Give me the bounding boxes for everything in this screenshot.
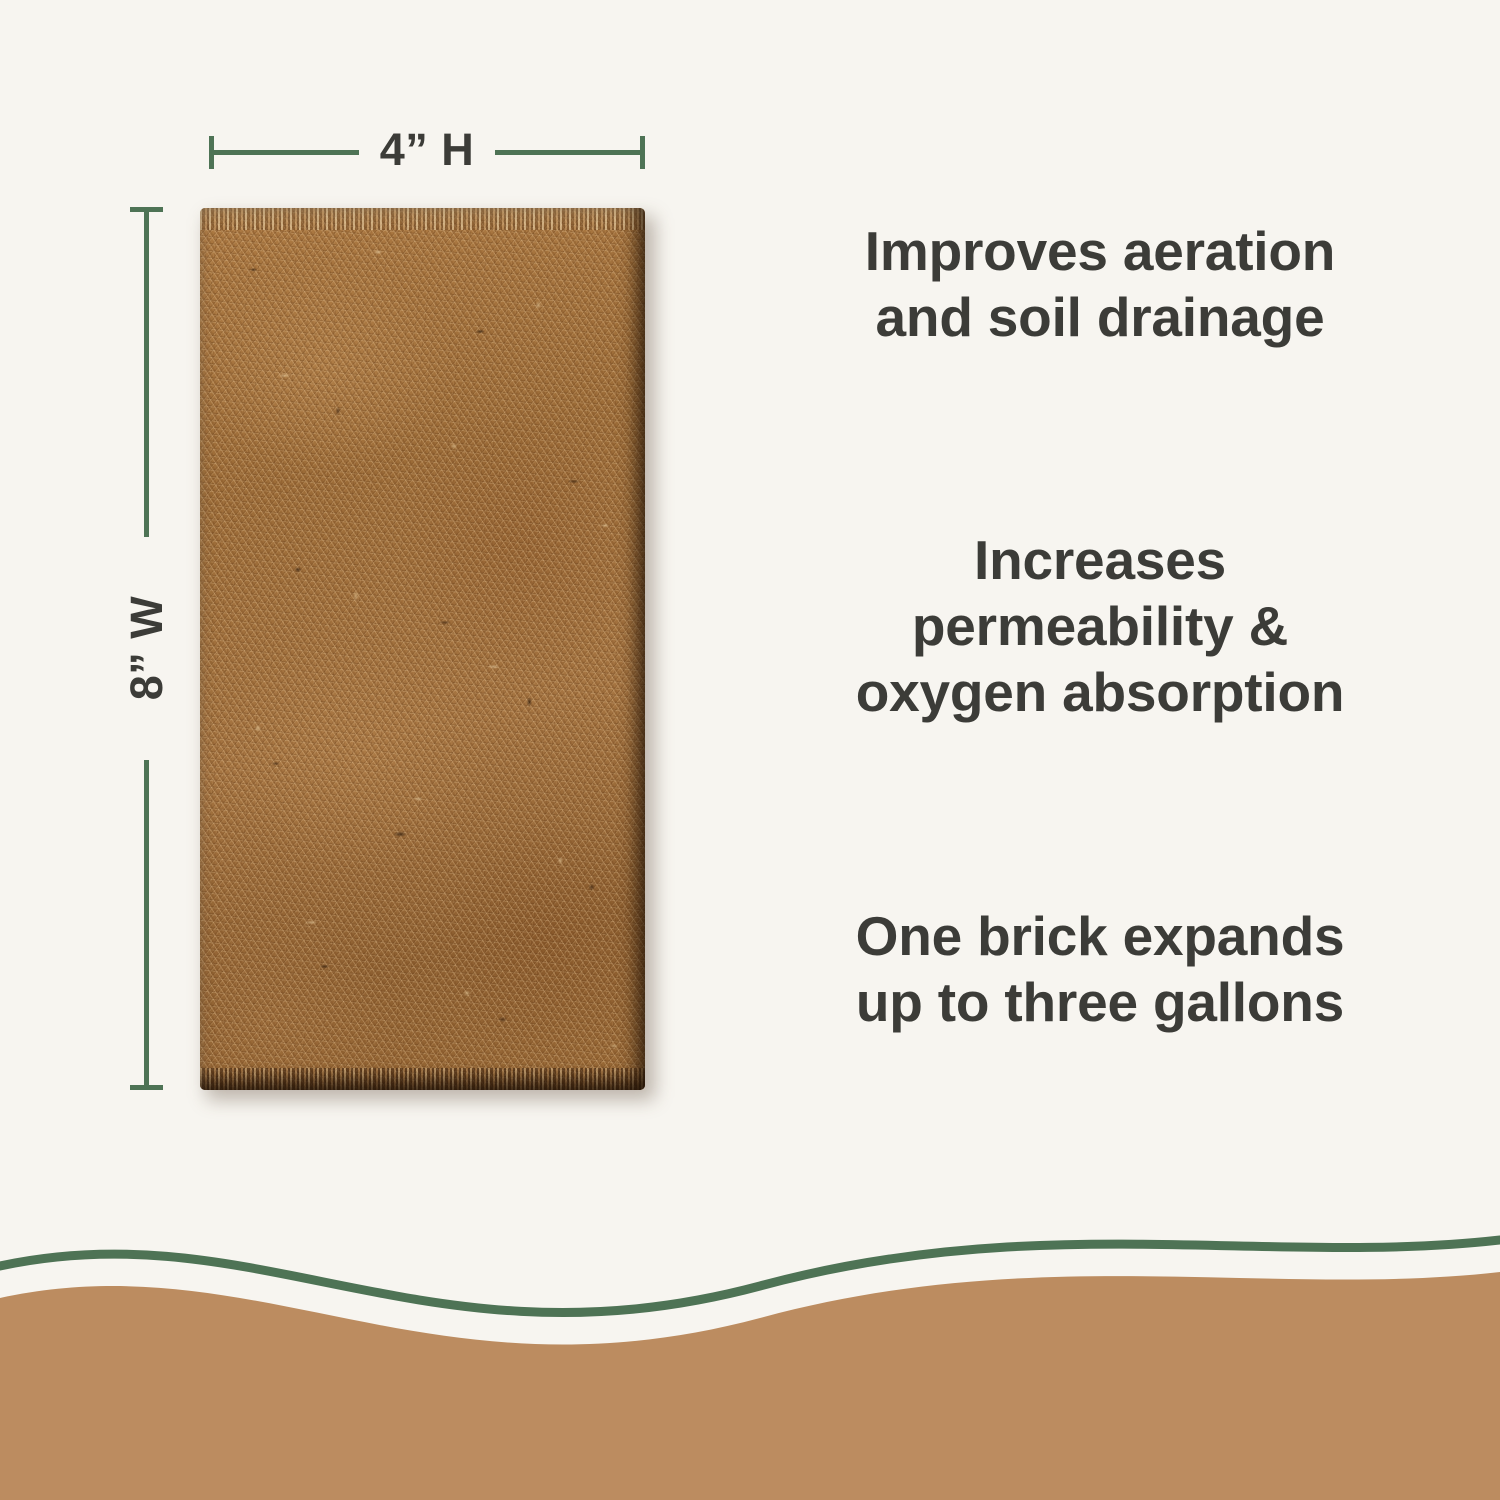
vertical-dimension-cap-bottom bbox=[130, 1085, 163, 1090]
feature-aeration-line-1: Improves aeration bbox=[700, 218, 1500, 284]
horizontal-dimension-line-right bbox=[495, 150, 645, 155]
feature-permeability-line-2: permeability & bbox=[700, 593, 1500, 659]
infographic-canvas: 4” H 8” W Improves aeration and soil dra… bbox=[0, 0, 1500, 1500]
brick-edge-shading bbox=[200, 208, 645, 1090]
vertical-dimension-cap-top bbox=[130, 207, 163, 212]
vertical-dimension-line-top bbox=[144, 207, 149, 537]
horizontal-dimension-cap-right bbox=[640, 136, 645, 169]
feature-permeability-line-1: Increases bbox=[700, 527, 1500, 593]
feature-permeability-line-3: oxygen absorption bbox=[700, 659, 1500, 725]
feature-expansion: One brick expands up to three gallons bbox=[700, 903, 1500, 1035]
product-image-panel: 4” H 8” W bbox=[0, 0, 740, 1180]
soil-wave-divider bbox=[0, 1170, 1500, 1500]
feature-list: Improves aeration and soil drainage Incr… bbox=[700, 0, 1500, 1180]
feature-expansion-line-1: One brick expands bbox=[700, 903, 1500, 969]
coco-coir-brick-image bbox=[200, 208, 645, 1090]
vertical-dimension-line-bottom bbox=[144, 760, 149, 1090]
horizontal-dimension-cap-left bbox=[209, 136, 214, 169]
horizontal-dimension-label: 4” H bbox=[359, 118, 495, 182]
feature-aeration-line-2: and soil drainage bbox=[700, 284, 1500, 350]
feature-permeability: Increases permeability & oxygen absorpti… bbox=[700, 527, 1500, 725]
horizontal-dimension-line-left bbox=[209, 150, 359, 155]
feature-aeration: Improves aeration and soil drainage bbox=[700, 218, 1500, 350]
soil-wave-fill bbox=[0, 1272, 1500, 1500]
vertical-dimension-label: 8” W bbox=[115, 580, 179, 716]
feature-expansion-line-2: up to three gallons bbox=[700, 969, 1500, 1035]
